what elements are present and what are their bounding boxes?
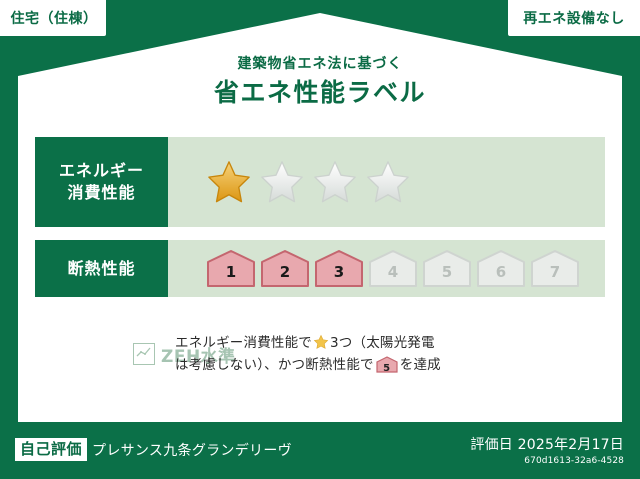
insulation-grade-empty: 4 — [367, 249, 419, 289]
badge-building-type: 住宅（住棟） — [0, 0, 106, 36]
insulation-grade-number: 5 — [421, 261, 473, 283]
building-name: プレサンス九条グランデリーヴ — [92, 440, 292, 460]
badge-renewable-equipment: 再エネ設備なし — [508, 0, 640, 36]
insulation-grade-number: 2 — [259, 261, 311, 283]
star-filled-icon — [205, 159, 253, 205]
zeh-desc-line2-b: を達成 — [400, 357, 441, 373]
row-insulation-performance-label: 断熱性能 — [35, 240, 168, 297]
insulation-grade-achieved: 3 — [313, 249, 365, 289]
zeh-desc-line1-a: エネルギー消費性能で — [175, 335, 312, 351]
zeh-description: エネルギー消費性能で3つ（太陽光発電 は考慮しない）、かつ断熱性能で 5 を達成 — [175, 332, 605, 376]
zeh-desc-line1-b: 3つ（太陽光発電 — [330, 335, 435, 351]
insulation-grade-empty: 5 — [421, 249, 473, 289]
inline-house-icon: 5 — [376, 356, 398, 373]
star-empty-icon — [311, 159, 359, 205]
insulation-grade-number: 6 — [475, 261, 527, 283]
insulation-grade-number: 3 — [313, 261, 365, 283]
zeh-checkbox-icon — [133, 343, 155, 365]
insulation-grade-achieved: 1 — [205, 249, 257, 289]
insulation-grade-achieved: 2 — [259, 249, 311, 289]
row-energy-label-line1: エネルギー — [59, 161, 144, 180]
star-empty-icon — [364, 159, 412, 205]
zeh-mark: ZEH水準 — [35, 342, 175, 367]
inline-star-icon — [313, 334, 329, 350]
inline-house-grade: 5 — [376, 358, 398, 380]
evaluation-id: 670d1613-32a6-4528 — [470, 455, 624, 467]
row-insulation-performance: 断熱性能 1234567 — [35, 240, 605, 297]
zeh-desc-line2-a: は考慮しない）、かつ断熱性能で — [175, 357, 374, 373]
evaluation-date: 評価日 2025年2月17日 — [470, 436, 624, 454]
zeh-standard-note: ZEH水準 エネルギー消費性能で3つ（太陽光発電 は考慮しない）、かつ断熱性能で… — [35, 332, 605, 376]
row-energy-performance-label: エネルギー 消費性能 — [35, 137, 168, 227]
star-empty-icon — [258, 159, 306, 205]
footer: 自己評価 プレサンス九条グランデリーヴ 評価日 2025年2月17日 670d1… — [0, 432, 640, 479]
footer-right: 評価日 2025年2月17日 670d1613-32a6-4528 — [470, 436, 624, 467]
badge-building-type-label: 住宅（住棟） — [11, 8, 98, 28]
insulation-grade-scale: 1234567 — [168, 240, 605, 297]
insulation-grade-number: 1 — [205, 261, 257, 283]
insulation-grade-empty: 7 — [529, 249, 581, 289]
insulation-grade-empty: 6 — [475, 249, 527, 289]
row-insulation-label-text: 断熱性能 — [67, 258, 135, 280]
row-energy-performance: エネルギー 消費性能 — [35, 137, 605, 227]
insulation-grade-number: 4 — [367, 261, 419, 283]
star-rating — [168, 137, 605, 227]
energy-performance-label: 住宅（住棟） 再エネ設備なし 建築物省エネ法に基づく 省エネ性能ラベル エネルギ… — [0, 0, 640, 479]
insulation-grade-number: 7 — [529, 261, 581, 283]
footer-left: 自己評価 プレサンス九条グランデリーヴ — [15, 438, 292, 461]
self-evaluation-badge: 自己評価 — [15, 438, 87, 461]
row-energy-label-line2: 消費性能 — [67, 183, 135, 202]
badge-renewable-equipment-label: 再エネ設備なし — [523, 8, 625, 28]
